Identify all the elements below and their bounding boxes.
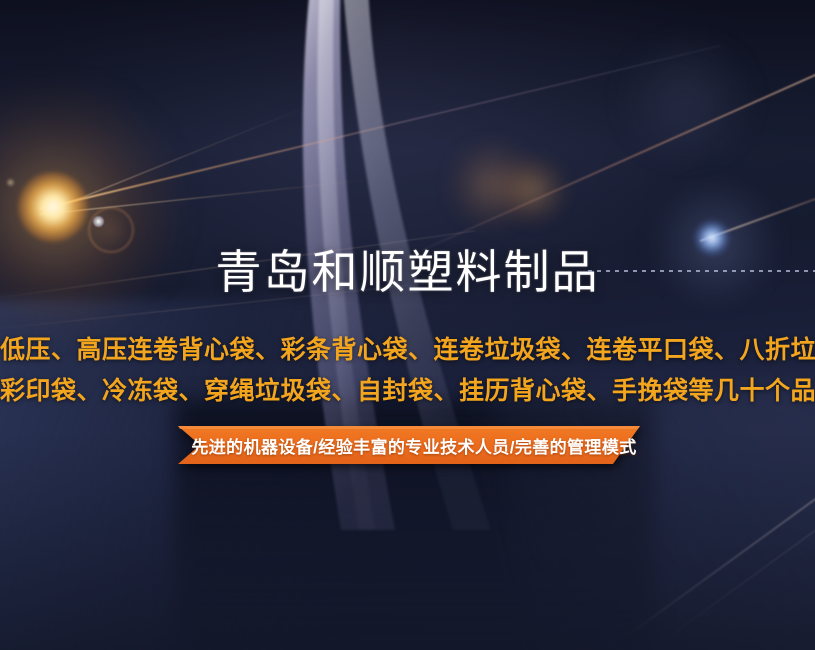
product-list: 低压、高压连卷背心袋、彩条背心袋、连卷垃圾袋、连卷平口袋、八折垃圾袋、 彩印袋、… bbox=[0, 330, 815, 412]
tagline-text: 先进的机器设备/经验丰富的专业技术人员/完善的管理模式 bbox=[178, 426, 640, 464]
tagline-ribbon: 先进的机器设备/经验丰富的专业技术人员/完善的管理模式 bbox=[178, 426, 640, 464]
product-list-line-2: 彩印袋、冷冻袋、穿绳垃圾袋、自封袋、挂历背心袋、手挽袋等几十个品种 bbox=[0, 371, 815, 412]
dotted-divider bbox=[588, 270, 815, 272]
product-list-line-1: 低压、高压连卷背心袋、彩条背心袋、连卷垃圾袋、连卷平口袋、八折垃圾袋、 bbox=[0, 330, 815, 371]
banner-stage: 青岛和顺塑料制品 低压、高压连卷背心袋、彩条背心袋、连卷垃圾袋、连卷平口袋、八折… bbox=[0, 0, 815, 650]
page-title: 青岛和顺塑料制品 bbox=[0, 243, 815, 301]
banner-content: 青岛和顺塑料制品 低压、高压连卷背心袋、彩条背心袋、连卷垃圾袋、连卷平口袋、八折… bbox=[0, 0, 815, 650]
